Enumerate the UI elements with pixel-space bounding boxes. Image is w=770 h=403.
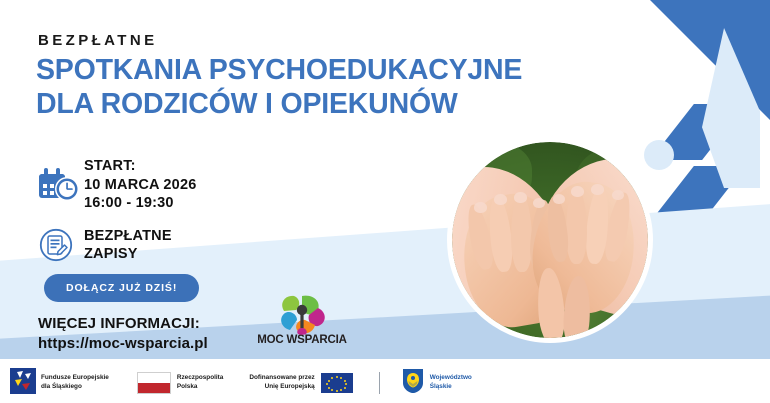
footer-item-polska: Rzeczpospolita Polska bbox=[137, 372, 224, 394]
fundusze-europejskie-logo bbox=[10, 368, 36, 399]
poland-flag-icon bbox=[137, 372, 171, 394]
footer-divider bbox=[379, 372, 380, 394]
chevron-shape bbox=[702, 28, 760, 188]
website-url[interactable]: https://moc-wsparcia.pl bbox=[38, 335, 208, 352]
form-pencil-icon bbox=[38, 227, 84, 263]
slaskie-caption-line1: Województwo bbox=[430, 374, 472, 383]
info-block: START: 10 MARCA 2026 16:00 - 19:30 BEZPŁ… bbox=[38, 157, 196, 278]
circle-dot-shape bbox=[644, 140, 674, 170]
signup-text: BEZPŁATNE ZAPISY bbox=[84, 227, 172, 264]
corner-triangle-shape bbox=[650, 0, 770, 120]
poster-canvas: BEZPŁATNE SPOTKANIA PSYCHOEDUKACYJNE DLA… bbox=[0, 0, 770, 403]
slaskie-caption: Województwo Śląskie bbox=[430, 374, 472, 391]
join-now-button[interactable]: DOŁĄCZ JUŻ DZIŚ! bbox=[44, 274, 199, 302]
eu-caption-line2: Unię Europejską bbox=[249, 383, 314, 392]
diagonal-bar-3 bbox=[650, 228, 746, 284]
more-info-block: WIĘCEJ INFORMACJI: https://moc-wsparcia.… bbox=[38, 315, 208, 352]
date-value: 10 MARCA 2026 bbox=[84, 176, 196, 195]
fundusze-caption-line2: dla Śląskiego bbox=[41, 383, 109, 392]
headline-line-1: SPOTKANIA PSYCHOEDUKACYJNE bbox=[36, 54, 596, 88]
photo-image bbox=[452, 142, 648, 338]
more-info-label: WIĘCEJ INFORMACJI: bbox=[38, 315, 208, 332]
polska-caption-line2: Polska bbox=[177, 383, 224, 392]
slaskie-coat-of-arms-icon bbox=[402, 368, 424, 399]
eu-caption: Dofinansowane przez Unię Europejską bbox=[249, 374, 314, 391]
signup-line-1: BEZPŁATNE bbox=[84, 227, 172, 246]
headline-line-2: DLA RODZICÓW I OPIEKUNÓW bbox=[36, 88, 596, 122]
polska-caption: Rzeczpospolita Polska bbox=[177, 374, 224, 391]
diagonal-bar-1 bbox=[650, 104, 746, 160]
start-label: START: bbox=[84, 157, 196, 176]
fundusze-caption: Fundusze Europejskie dla Śląskiego bbox=[41, 374, 109, 391]
eu-flag-icon bbox=[321, 373, 353, 393]
footer-item-fundusze: Fundusze Europejskie dla Śląskiego bbox=[10, 368, 109, 399]
footer-logos: Fundusze Europejskie dla Śląskiego Rzecz… bbox=[0, 363, 770, 403]
eu-caption-line1: Dofinansowane przez bbox=[249, 374, 314, 383]
moc-wsparcia-logo: MOC WSPARCIA bbox=[252, 292, 352, 354]
page-title: SPOTKANIA PSYCHOEDUKACYJNE DLA RODZICÓW … bbox=[36, 54, 596, 121]
date-row: START: 10 MARCA 2026 16:00 - 19:30 bbox=[38, 157, 196, 213]
diagonal-bar-2 bbox=[650, 166, 746, 222]
signup-line-2: ZAPISY bbox=[84, 245, 172, 264]
hands-photo bbox=[452, 142, 648, 338]
slaskie-caption-line2: Śląskie bbox=[430, 383, 472, 392]
time-value: 16:00 - 19:30 bbox=[84, 194, 196, 213]
footer-item-slaskie: Województwo Śląskie bbox=[402, 368, 472, 399]
fundusze-caption-line1: Fundusze Europejskie bbox=[41, 374, 109, 383]
pinwheel-icon bbox=[271, 292, 333, 336]
footer-item-eu: Dofinansowane przez Unię Europejską bbox=[249, 373, 352, 393]
polska-caption-line1: Rzeczpospolita bbox=[177, 374, 224, 383]
date-text: START: 10 MARCA 2026 16:00 - 19:30 bbox=[84, 157, 196, 213]
eyebrow-label: BEZPŁATNE bbox=[38, 32, 158, 49]
signup-row: BEZPŁATNE ZAPISY bbox=[38, 227, 196, 264]
calendar-clock-icon bbox=[38, 168, 84, 202]
